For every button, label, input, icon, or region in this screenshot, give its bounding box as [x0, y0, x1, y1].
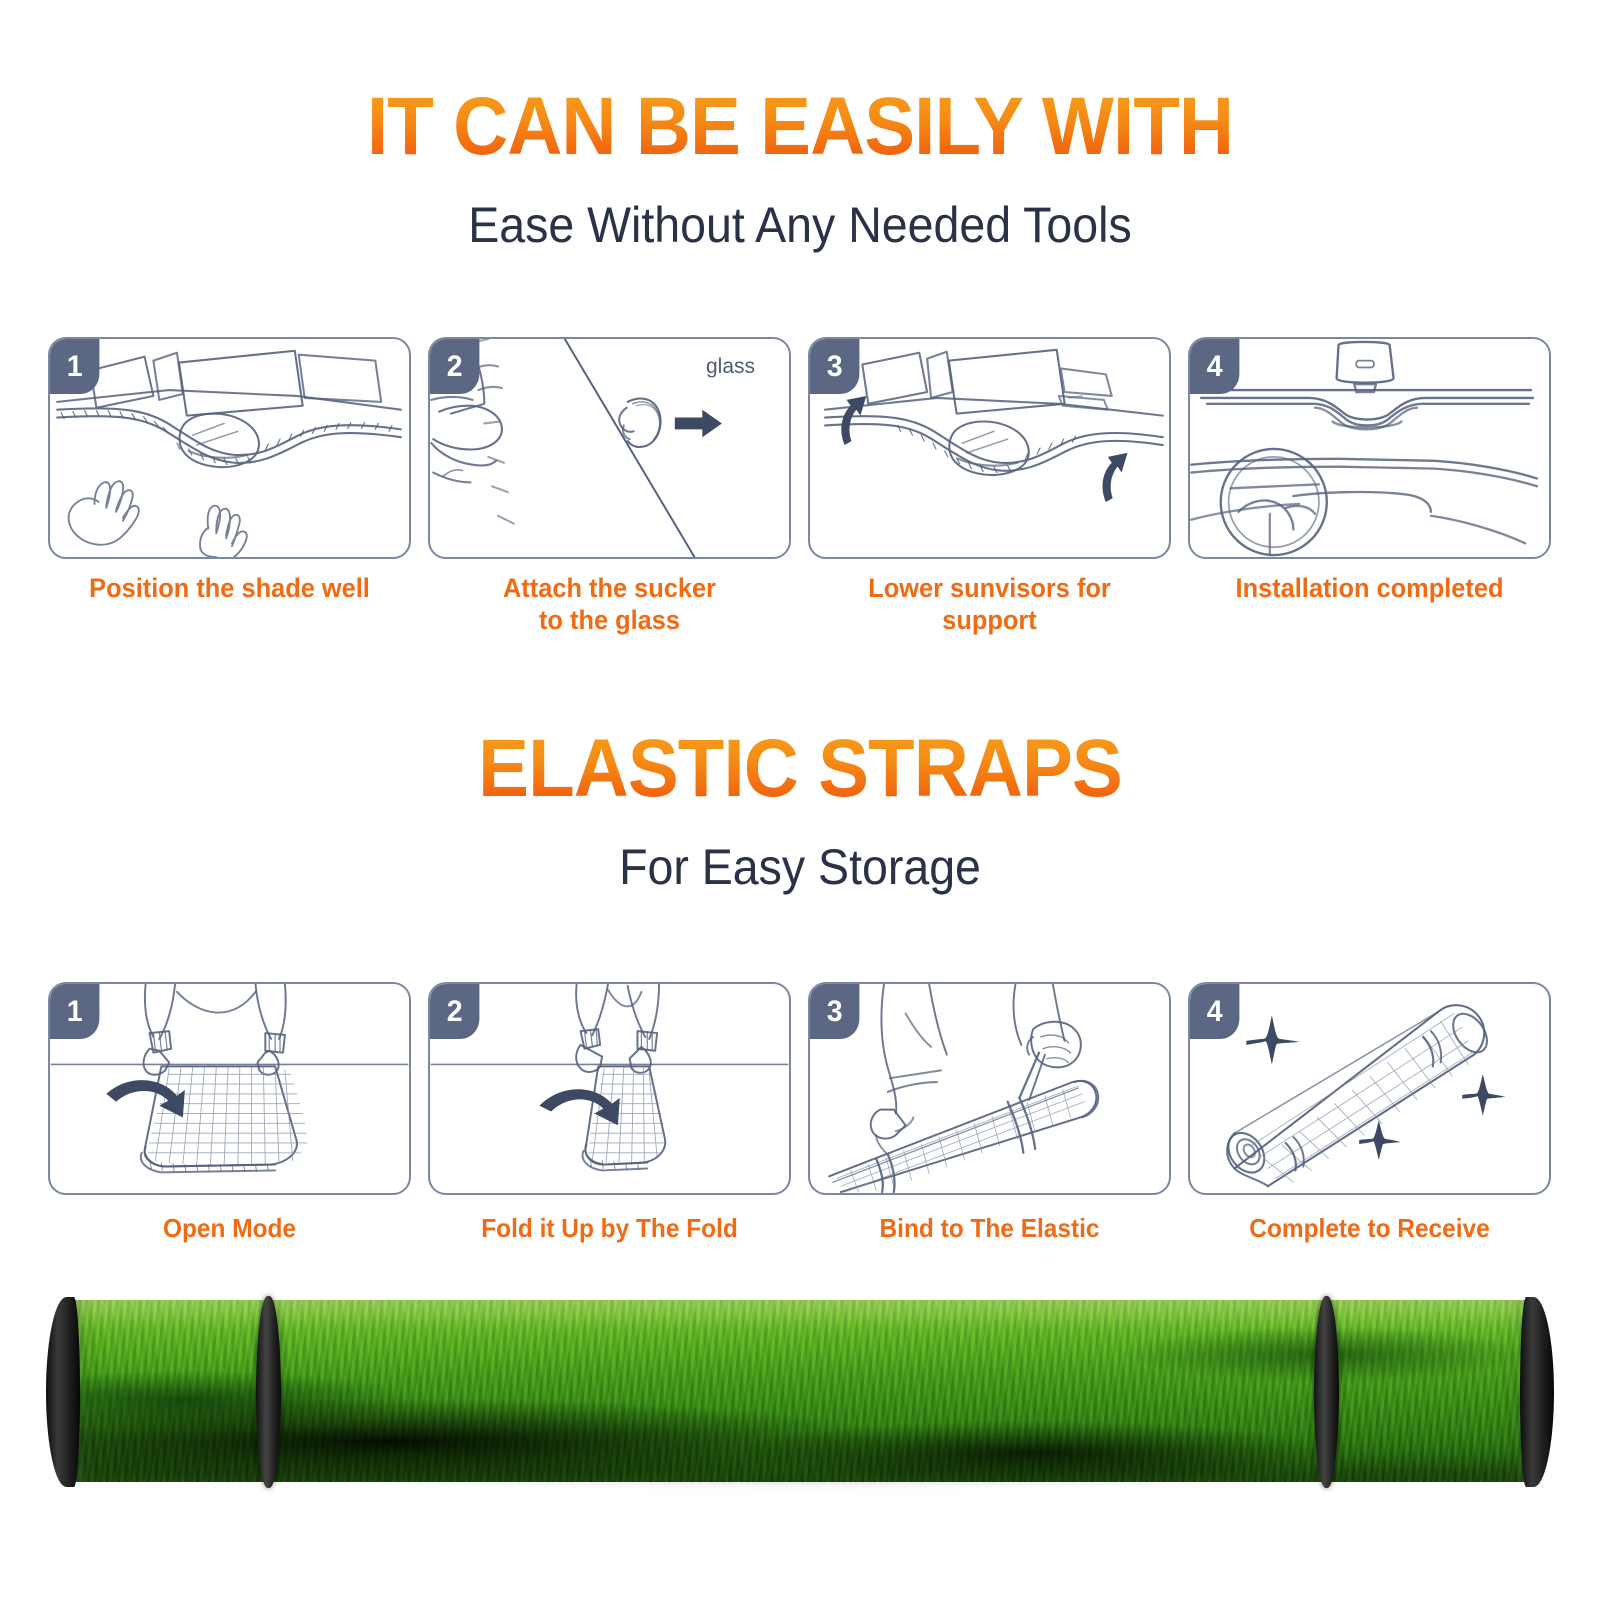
step-caption: Installation completed: [1199, 573, 1540, 605]
elastic-strap: [1314, 1296, 1339, 1488]
dashboard-shade-hands-icon: [50, 339, 409, 557]
step-caption: Lower sunvisors for support: [819, 573, 1160, 637]
installation-title: IT CAN BE EASILY WITH: [56, 86, 1544, 168]
hands-bind-elastic-icon: [810, 984, 1169, 1193]
hands-unfold-shade-icon: [50, 984, 409, 1193]
roll-end-cap-left: [46, 1297, 80, 1487]
roll-end-cap-right: [1520, 1297, 1554, 1487]
step-card: 3: [808, 337, 1171, 559]
elastic-strap: [256, 1296, 281, 1488]
step-card: 1: [48, 982, 411, 1195]
step-card: 2: [428, 337, 791, 559]
step-number-badge: 1: [50, 339, 99, 394]
step-caption: Attach the sucker to the glass: [439, 573, 780, 637]
storage-step-3[interactable]: 3: [808, 982, 1171, 1244]
step-caption: Complete to Receive: [1199, 1213, 1540, 1244]
step-card: 3: [808, 982, 1171, 1195]
sunvisor-rotate-arrows-icon: [810, 339, 1169, 557]
storage-subtitle: For Easy Storage: [56, 842, 1544, 892]
rolled-shade-sparkle-icon: [1190, 984, 1549, 1193]
installation-subtitle: Ease Without Any Needed Tools: [56, 200, 1544, 250]
step-caption: Position the shade well: [59, 573, 400, 605]
step-caption: Open Mode: [59, 1213, 400, 1244]
step-caption: Bind to The Elastic: [819, 1213, 1160, 1244]
hands-fold-shade-icon: [430, 984, 789, 1193]
installation-step-2[interactable]: 2: [428, 337, 791, 637]
windshield-steering-wheel-icon: [1190, 339, 1549, 557]
step-number-badge: 3: [810, 984, 859, 1039]
storage-step-4[interactable]: 4: [1188, 982, 1551, 1244]
step-card: 2: [428, 982, 791, 1195]
installation-step-3[interactable]: 3: [808, 337, 1171, 637]
step-number-badge: 2: [430, 984, 479, 1039]
installation-section-heading: IT CAN BE EASILY WITH Ease Without Any N…: [0, 86, 1600, 250]
step-number-badge: 4: [1190, 339, 1239, 394]
step-card: 4: [1188, 982, 1551, 1195]
storage-title: ELASTIC STRAPS: [56, 728, 1544, 810]
installation-step-4[interactable]: 4: [1188, 337, 1551, 605]
step-number-badge: 3: [810, 339, 859, 394]
step-card: 4: [1188, 337, 1551, 559]
product-photo-rolled-sunshade: [46, 1300, 1554, 1500]
glass-annotation-label: glass: [706, 355, 755, 379]
storage-step-2[interactable]: 2: [428, 982, 791, 1244]
step-card: 1: [48, 337, 411, 559]
step-caption: Fold it Up by The Fold: [439, 1213, 780, 1244]
step-number-badge: 4: [1190, 984, 1239, 1039]
installation-step-1[interactable]: 1: [48, 337, 411, 605]
step-number-badge: 1: [50, 984, 99, 1039]
grass-print-roll: [70, 1300, 1532, 1482]
infographic-page: IT CAN BE EASILY WITH Ease Without Any N…: [0, 0, 1600, 1600]
storage-step-1[interactable]: 1: [48, 982, 411, 1244]
storage-section-heading: ELASTIC STRAPS For Easy Storage: [0, 728, 1600, 892]
step-number-badge: 2: [430, 339, 479, 394]
